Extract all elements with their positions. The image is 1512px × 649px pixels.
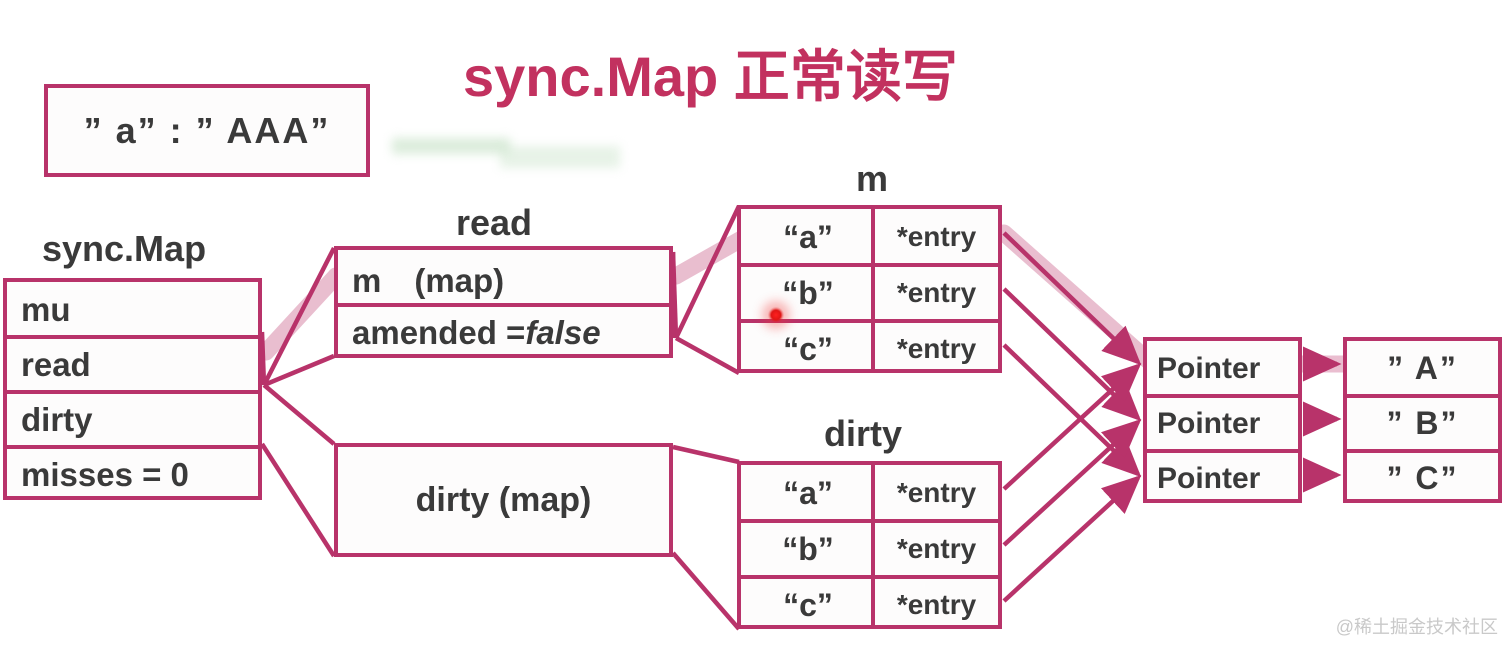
redacted-text-block [392,138,510,154]
kv-callout-box: ” a” : ” AAA” [44,84,370,177]
value-label: ” B” [1387,405,1459,442]
read-struct: m (map) amended = false [334,246,673,358]
read-field-value: false [525,314,600,352]
table-row: “b” *entry [741,521,998,577]
dirty-key-cell: “a” [741,465,875,521]
read-caption: read [456,202,532,244]
page-title: sync.Map 正常读写 [463,32,958,113]
syncmap-caption: sync.Map [42,228,206,270]
pointer-label: Pointer [1157,352,1260,386]
syncmap-field-label: misses = 0 [21,456,189,494]
value-label: ” A” [1387,350,1458,387]
dirty-value-cell: *entry [875,577,998,633]
dirty-entry-table: “a” *entry “b” *entry “c” *entry [737,461,1002,629]
watermark: @稀土掘金技术社区 [1336,613,1498,639]
syncmap-struct: mu read dirty misses = 0 [3,278,262,500]
syncmap-field-read: read [7,337,258,392]
syncmap-field-misses: misses = 0 [7,447,258,502]
m-key-cell: “a” [741,209,875,265]
m-value-cell: *entry [875,265,998,321]
m-value-cell: *entry [875,209,998,265]
m-value-cell: *entry [875,321,998,377]
table-row: “a” *entry [741,465,998,521]
redacted-text-block [500,146,620,168]
syncmap-field-mu: mu [7,282,258,337]
value-row: ” B” [1347,396,1498,451]
pointer-column: Pointer Pointer Pointer [1143,337,1302,503]
read-field-label: m (map) [352,254,504,302]
syncmap-to-read-connector [262,248,334,385]
mtable-to-pointer-arrows [1004,233,1138,474]
pointer-row: Pointer [1147,341,1298,396]
table-row: “a” *entry [741,209,998,265]
table-row: “c” *entry [741,321,998,377]
syncmap-field-label: mu [21,291,71,329]
dirty-key-cell: “b” [741,521,875,577]
pointer-label: Pointer [1157,462,1260,496]
diagram-canvas: sync.Map 正常读写 ” a” : ” AAA” sync.Map mu … [0,0,1512,649]
value-column: ” A” ” B” ” C” [1343,337,1502,503]
read-to-mtable-connector [673,206,739,373]
pointer-row: Pointer [1147,451,1298,506]
read-field-m: m (map) [338,250,669,305]
dirty-value-cell: *entry [875,521,998,577]
dirty-key-cell: “c” [741,577,875,633]
read-field-amended: amended = false [338,305,669,360]
pointer-to-value-arrows [1303,364,1337,475]
dirty-map-label: dirty (map) [338,447,669,553]
dirty-map-box: dirty (map) [334,443,673,557]
m-table-caption: m [856,158,888,200]
pointer-label: Pointer [1157,407,1260,441]
value-label: ” C” [1387,460,1459,497]
m-key-cell: “c” [741,321,875,377]
dirty-value-cell: *entry [875,465,998,521]
m-entry-table: “a” *entry “b” *entry “c” *entry [737,205,1002,373]
dirtymap-to-dirtytable-connector [673,447,739,629]
syncmap-field-label: dirty [21,401,93,439]
mouse-cursor-dot [768,307,784,323]
table-row: “c” *entry [741,577,998,633]
m-key-cell: “b” [741,265,875,321]
dirty-table-caption: dirty [824,413,902,455]
pointer-row: Pointer [1147,396,1298,451]
dirtytable-to-pointer-arrows [1004,366,1138,601]
kv-callout-text: ” a” : ” AAA” [48,88,366,173]
value-row: ” A” [1347,341,1498,396]
syncmap-to-dirty-connector [262,385,334,556]
syncmap-field-label: read [21,346,91,384]
read-field-label: amended = [352,314,525,352]
value-row: ” C” [1347,451,1498,506]
syncmap-field-dirty: dirty [7,392,258,447]
